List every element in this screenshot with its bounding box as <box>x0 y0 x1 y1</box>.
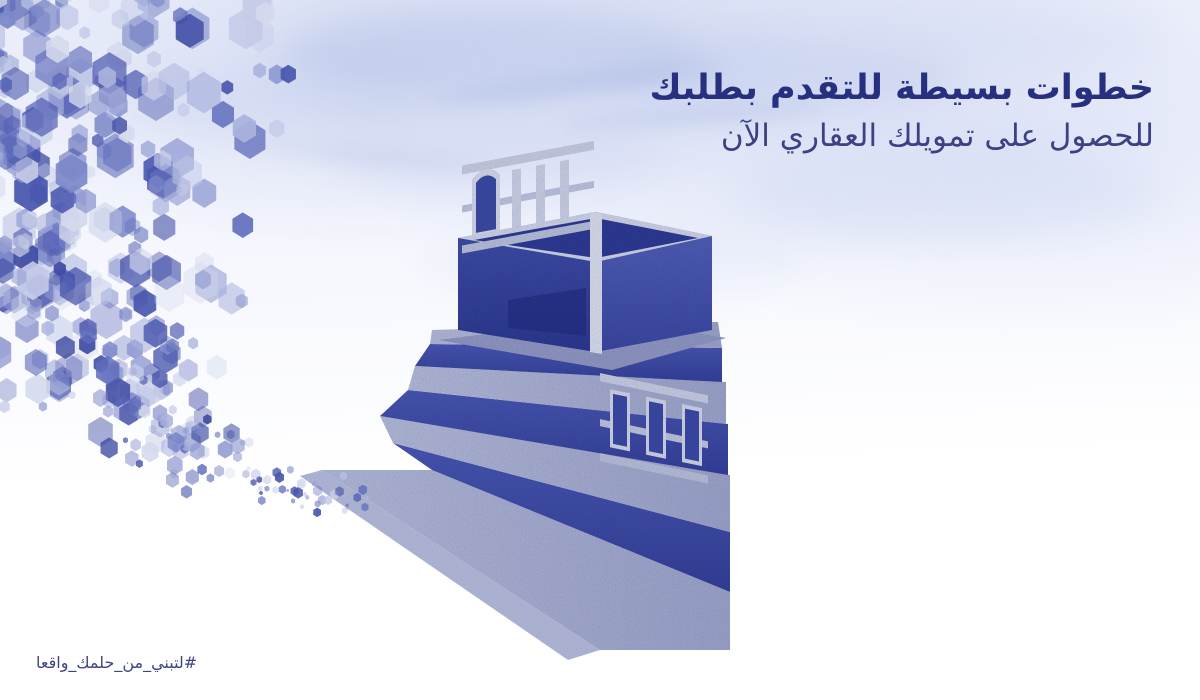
hexagon-particle <box>123 437 129 443</box>
hexagon-particle <box>0 378 18 402</box>
campaign-hashtag: #لتبني_من_حلمك_واقعا <box>36 653 197 672</box>
page-title: خطوات بسيطة للتقدم بطلبك <box>514 66 1154 110</box>
hexagon-particle <box>339 472 347 481</box>
hexagon-particle <box>102 405 114 417</box>
hexagon-particle <box>272 486 279 494</box>
hexagon-particle <box>244 437 254 448</box>
hexagon-particle <box>169 322 186 340</box>
hexagon-particle <box>312 485 323 496</box>
hexagon-particle <box>214 431 220 438</box>
hexagon-particle <box>278 485 286 494</box>
hexagon-particle <box>291 498 296 503</box>
hexagon-particle <box>252 63 267 79</box>
hexagon-particle <box>220 80 234 95</box>
hexagon-particle <box>79 26 91 39</box>
hexagon-particle <box>38 401 48 411</box>
hexagon-particle <box>205 355 228 380</box>
hexagon-particle <box>257 496 266 505</box>
hexagon-particle <box>258 486 263 491</box>
hexagon-particle <box>286 489 289 493</box>
hexagon-particle <box>300 504 305 509</box>
hexagon-particle <box>0 400 11 413</box>
hexagon-particle <box>242 470 250 479</box>
hexagon-particle <box>259 491 263 495</box>
hexagon-particle <box>264 486 270 492</box>
hexagon-particle <box>358 485 368 495</box>
hexagon-particle <box>187 337 198 349</box>
hexagon-particle <box>312 481 317 486</box>
hexagon-particle <box>151 214 177 241</box>
copy-block: خطوات بسيطة للتقدم بطلبك للحصول على تموي… <box>514 66 1154 156</box>
page-subtitle: للحصول على تمويلك العقاري الآن <box>514 116 1154 156</box>
hexagon-particle <box>286 466 294 474</box>
hexagon-particle <box>146 51 162 68</box>
hexagon-particle <box>366 496 369 499</box>
hexagon-particle <box>206 473 215 482</box>
hexagon-particle <box>0 171 7 203</box>
hexagon-particle <box>224 467 236 479</box>
banner-root: خطوات بسيطة للتقدم بطلبك للحصول على تموي… <box>0 0 1200 700</box>
hexagon-particle <box>361 503 369 512</box>
hexagon-particle <box>168 405 177 415</box>
hexagon-particle <box>130 438 142 451</box>
hexagon-particle <box>268 119 286 138</box>
hexagon-particle <box>87 0 111 14</box>
hexagon-particle <box>213 465 225 477</box>
hexagon-particle <box>50 0 77 5</box>
hexagon-particle <box>180 485 193 499</box>
hexagon-particle <box>187 387 210 411</box>
hexagon-particle <box>313 508 322 518</box>
hexagon-particle <box>353 493 362 503</box>
hexagon-particle <box>177 103 191 118</box>
hexagon-particle <box>263 475 272 485</box>
hexagon-particle <box>231 212 255 238</box>
